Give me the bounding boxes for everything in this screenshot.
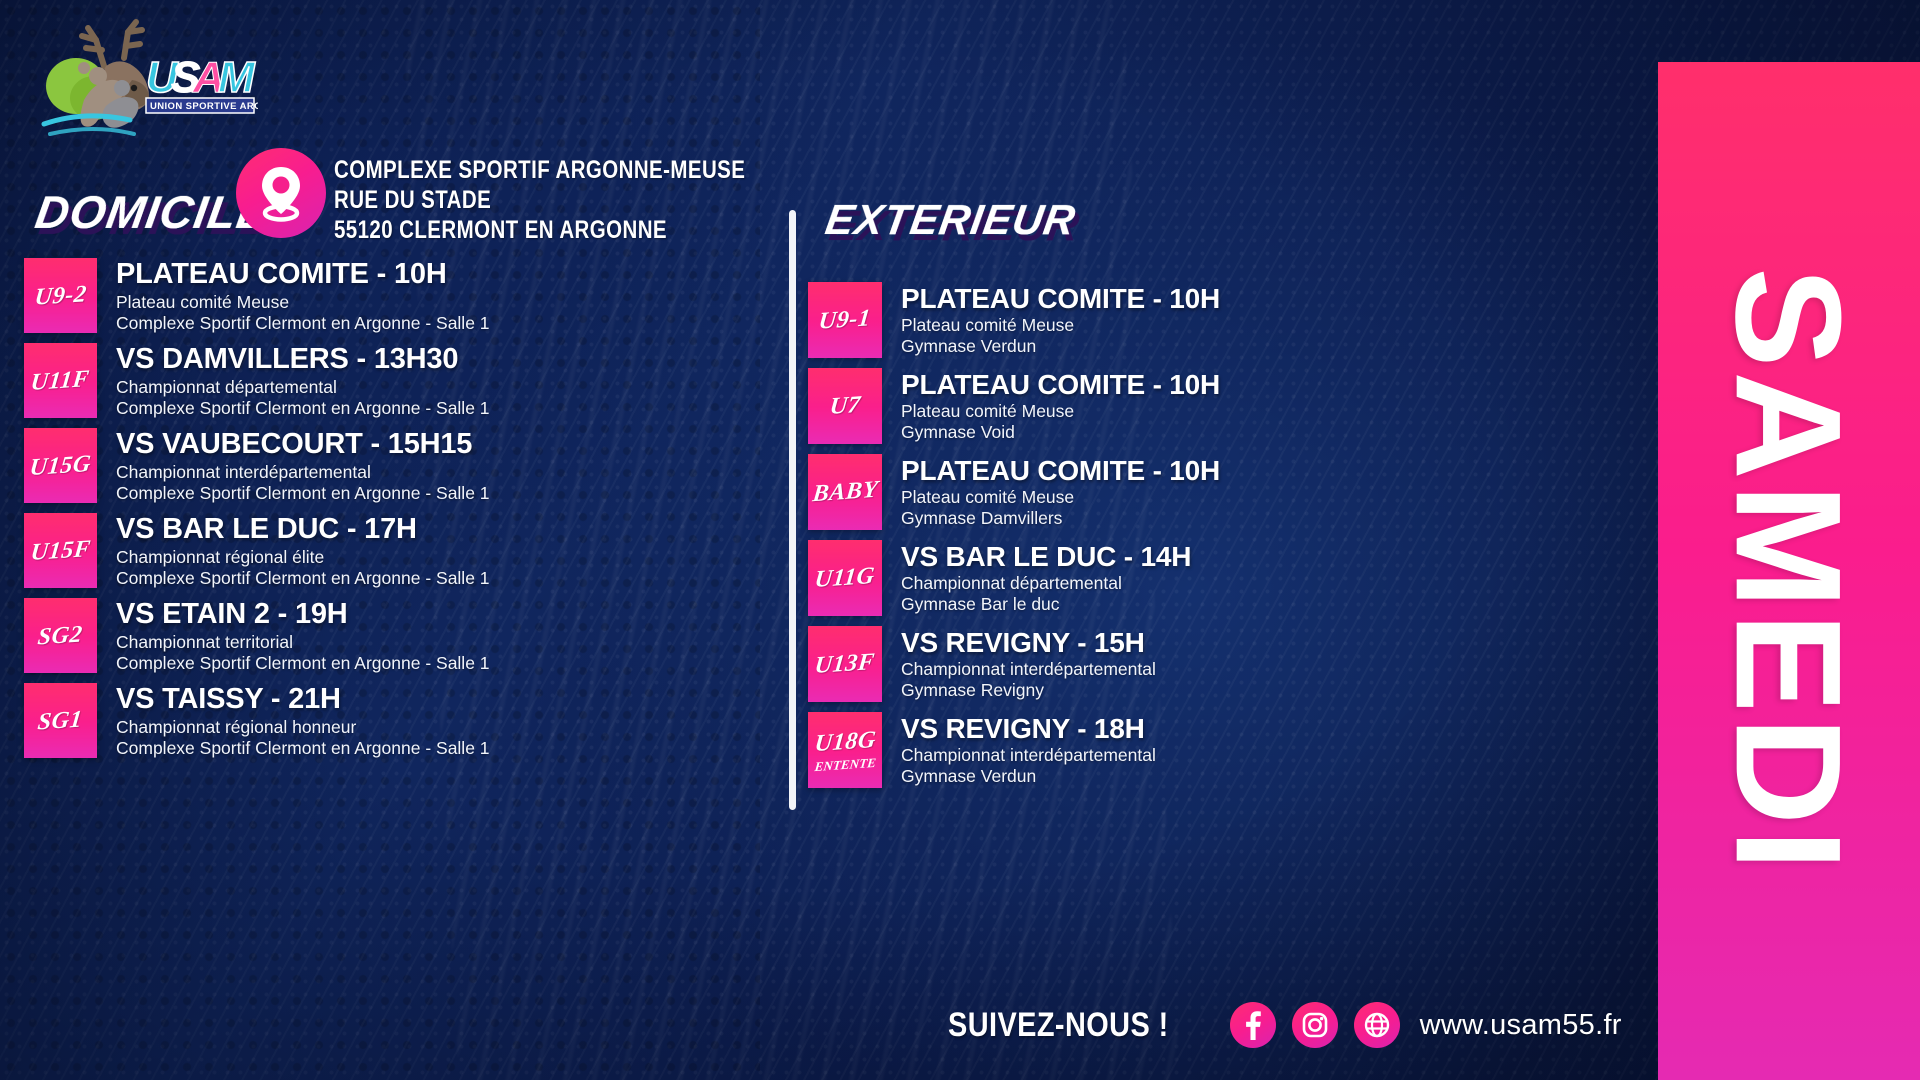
match-title: VS DAMVILLERS - 13H30 xyxy=(116,343,490,375)
svg-text:M: M xyxy=(218,53,256,102)
category-badge: U15G xyxy=(24,428,97,503)
match-venue: Complexe Sportif Clermont en Argonne - S… xyxy=(116,568,490,589)
category-badge-label: U11F xyxy=(30,367,91,395)
follow-us-label: SUIVEZ-NOUS ! xyxy=(948,1006,1169,1045)
website-url[interactable]: www.usam55.fr xyxy=(1420,1009,1622,1042)
match-title: PLATEAU COMITE - 10H xyxy=(901,283,1220,315)
match-competition: Championnat interdépartemental xyxy=(901,659,1156,680)
match-row: SG2VS ETAIN 2 - 19HChampionnat territori… xyxy=(24,598,764,673)
match-info: VS BAR LE DUC - 14HChampionnat départeme… xyxy=(882,540,1191,615)
category-badge: U11F xyxy=(24,343,97,418)
category-badge-sublabel: ENTENTE xyxy=(814,755,877,772)
match-row: U13FVS REVIGNY - 15HChampionnat interdép… xyxy=(808,626,1508,702)
match-title: PLATEAU COMITE - 10H xyxy=(116,258,490,290)
match-row: U18GENTENTEVS REVIGNY - 18HChampionnat i… xyxy=(808,712,1508,788)
match-competition: Plateau comité Meuse xyxy=(901,487,1220,508)
category-badge-label: U7 xyxy=(828,393,861,419)
globe-icon[interactable] xyxy=(1354,1002,1400,1048)
category-badge: U15F xyxy=(24,513,97,588)
match-competition: Championnat départemental xyxy=(116,377,490,398)
match-venue: Gymnase Bar le duc xyxy=(901,594,1191,615)
category-badge-label: U13F xyxy=(814,650,876,678)
usam-logo: U S A M UNION SPORTIVE ARGONNE MEUSE xyxy=(28,14,258,154)
match-info: PLATEAU COMITE - 10HPlateau comité Meuse… xyxy=(97,258,490,334)
away-match-list: U9-1PLATEAU COMITE - 10HPlateau comité M… xyxy=(808,282,1508,798)
category-badge: U11G xyxy=(808,540,882,616)
match-title: VS REVIGNY - 18H xyxy=(901,713,1156,745)
match-competition: Championnat territorial xyxy=(116,632,490,653)
footer: SUIVEZ-NOUS ! www.usam55.fr xyxy=(948,1002,1622,1048)
category-badge: U13F xyxy=(808,626,882,702)
match-row: U7PLATEAU COMITE - 10HPlateau comité Meu… xyxy=(808,368,1508,444)
match-info: VS REVIGNY - 15HChampionnat interdéparte… xyxy=(882,626,1156,701)
instagram-icon[interactable] xyxy=(1292,1002,1338,1048)
match-row: BABYPLATEAU COMITE - 10HPlateau comité M… xyxy=(808,454,1508,530)
category-badge: U9-2 xyxy=(24,258,97,333)
match-venue: Gymnase Void xyxy=(901,422,1220,443)
category-badge: SG2 xyxy=(24,598,97,673)
match-venue: Complexe Sportif Clermont en Argonne - S… xyxy=(116,738,490,759)
category-badge-label: U18G xyxy=(813,727,877,755)
home-match-list: U9-2PLATEAU COMITE - 10HPlateau comité M… xyxy=(24,258,764,768)
match-row: SG1VS TAISSY - 21HChampionnat régional h… xyxy=(24,683,764,758)
category-badge: U18GENTENTE xyxy=(808,712,882,788)
category-badge-label: BABY xyxy=(811,478,879,506)
deer-handball-logo-icon: U S A M UNION SPORTIVE ARGONNE MEUSE xyxy=(28,14,258,154)
match-row: U9-1PLATEAU COMITE - 10HPlateau comité M… xyxy=(808,282,1508,358)
match-title: VS ETAIN 2 - 19H xyxy=(116,598,490,630)
match-venue: Complexe Sportif Clermont en Argonne - S… xyxy=(116,483,490,504)
category-badge-label: U11G xyxy=(814,564,876,592)
match-venue: Gymnase Revigny xyxy=(901,680,1156,701)
venue-address: COMPLEXE SPORTIF ARGONNE-MEUSE RUE DU ST… xyxy=(334,155,745,245)
match-venue: Gymnase Damvillers xyxy=(901,508,1220,529)
match-info: VS REVIGNY - 18HChampionnat interdéparte… xyxy=(882,712,1156,787)
match-info: VS DAMVILLERS - 13H30Championnat départe… xyxy=(97,343,490,419)
match-row: U15FVS BAR LE DUC - 17HChampionnat régio… xyxy=(24,513,764,588)
category-badge-label: U15F xyxy=(29,536,91,564)
match-venue: Gymnase Verdun xyxy=(901,336,1220,357)
match-venue: Complexe Sportif Clermont en Argonne - S… xyxy=(116,653,490,674)
social-links xyxy=(1230,1002,1400,1048)
category-badge-label: U9-1 xyxy=(818,306,872,334)
match-competition: Championnat interdépartemental xyxy=(116,462,490,483)
match-row: U9-2PLATEAU COMITE - 10HPlateau comité M… xyxy=(24,258,764,333)
match-title: VS REVIGNY - 15H xyxy=(901,627,1156,659)
match-info: PLATEAU COMITE - 10HPlateau comité Meuse… xyxy=(882,282,1220,357)
venue-line-1: COMPLEXE SPORTIF ARGONNE-MEUSE xyxy=(334,155,745,185)
match-title: PLATEAU COMITE - 10H xyxy=(901,369,1220,401)
match-competition: Championnat régional élite xyxy=(116,547,490,568)
match-info: PLATEAU COMITE - 10HPlateau comité Meuse… xyxy=(882,368,1220,443)
day-banner: SAMEDI xyxy=(1658,62,1920,1080)
category-badge: U9-1 xyxy=(808,282,882,358)
facebook-icon[interactable] xyxy=(1230,1002,1276,1048)
category-badge-label: SG1 xyxy=(37,707,84,734)
category-badge: U7 xyxy=(808,368,882,444)
match-competition: Championnat interdépartemental xyxy=(901,745,1156,766)
match-venue: Complexe Sportif Clermont en Argonne - S… xyxy=(116,398,490,419)
location-pin-icon xyxy=(236,148,326,238)
match-title: VS BAR LE DUC - 14H xyxy=(901,541,1191,573)
match-info: VS BAR LE DUC - 17HChampionnat régional … xyxy=(97,513,490,589)
venue-line-3: 55120 CLERMONT EN ARGONNE xyxy=(334,215,745,245)
category-badge: SG1 xyxy=(24,683,97,758)
section-title-away: EXTERIEUR xyxy=(822,196,1079,244)
logo-tagline: UNION SPORTIVE ARGONNE MEUSE xyxy=(150,101,258,112)
match-competition: Plateau comité Meuse xyxy=(116,292,490,313)
match-row: U15GVS VAUBECOURT - 15H15Championnat int… xyxy=(24,428,764,503)
match-competition: Plateau comité Meuse xyxy=(901,401,1220,422)
match-info: VS ETAIN 2 - 19HChampionnat territorialC… xyxy=(97,598,490,674)
match-info: VS VAUBECOURT - 15H15Championnat interdé… xyxy=(97,428,490,504)
match-row: U11GVS BAR LE DUC - 14HChampionnat dépar… xyxy=(808,540,1508,616)
match-info: PLATEAU COMITE - 10HPlateau comité Meuse… xyxy=(882,454,1220,529)
match-venue: Complexe Sportif Clermont en Argonne - S… xyxy=(116,313,490,334)
category-badge-label: U15G xyxy=(29,451,93,479)
day-label: SAMEDI xyxy=(1714,267,1864,874)
match-competition: Championnat régional honneur xyxy=(116,717,490,738)
match-title: PLATEAU COMITE - 10H xyxy=(901,455,1220,487)
category-badge-label: U9-2 xyxy=(33,282,87,310)
category-badge-label: SG2 xyxy=(37,622,84,649)
venue-line-2: RUE DU STADE xyxy=(334,185,745,215)
match-row: U11FVS DAMVILLERS - 13H30Championnat dép… xyxy=(24,343,764,418)
match-title: VS VAUBECOURT - 15H15 xyxy=(116,428,490,460)
column-divider xyxy=(789,210,796,810)
match-info: VS TAISSY - 21HChampionnat régional honn… xyxy=(97,683,490,759)
match-venue: Gymnase Verdun xyxy=(901,766,1156,787)
category-badge: BABY xyxy=(808,454,882,530)
match-competition: Championnat départemental xyxy=(901,573,1191,594)
match-title: VS BAR LE DUC - 17H xyxy=(116,513,490,545)
match-competition: Plateau comité Meuse xyxy=(901,315,1220,336)
match-title: VS TAISSY - 21H xyxy=(116,683,490,715)
